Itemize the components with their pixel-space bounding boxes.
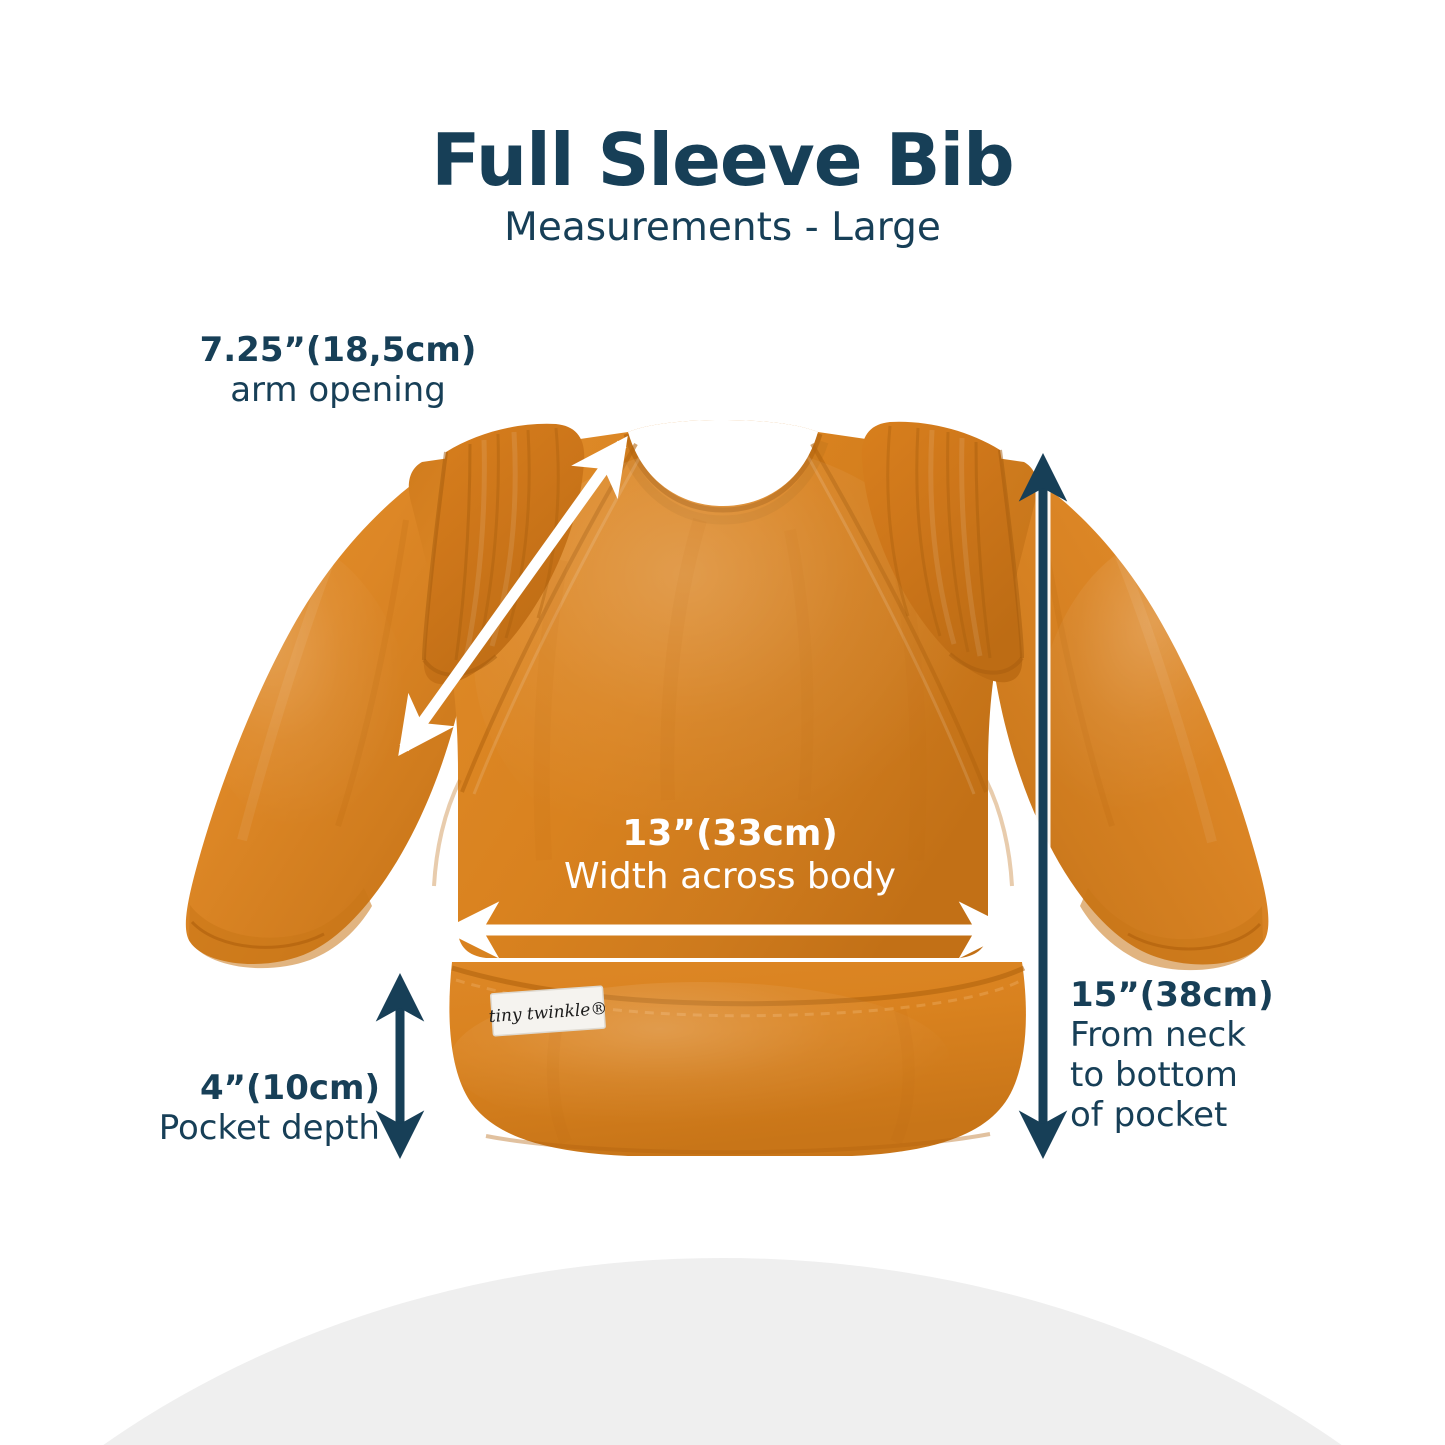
measurement-diagram: Full Sleeve Bib Measurements - Large	[0, 0, 1445, 1445]
width-description: Width across body	[460, 855, 1000, 898]
width-value: 13”(33cm)	[460, 812, 1000, 855]
callout-width-across-body: 13”(33cm) Width across body	[460, 812, 1000, 898]
arm-opening-arrow	[404, 444, 622, 748]
measurement-arrows	[0, 0, 1445, 1445]
